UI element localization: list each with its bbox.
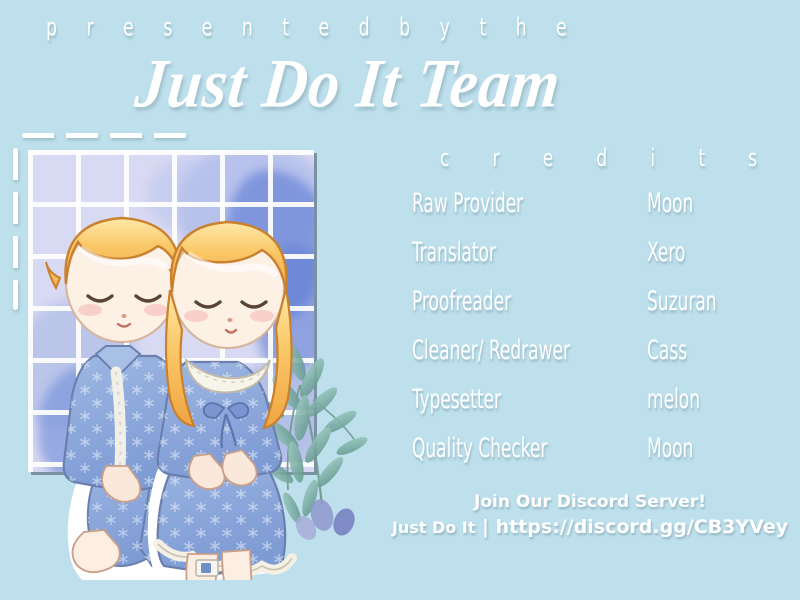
credit-row: Proofreader Suzuran xyxy=(412,290,742,339)
separator: | xyxy=(482,516,489,538)
credit-role: Translator xyxy=(412,238,614,269)
credit-role: Quality Checker xyxy=(412,434,614,465)
credits-page: p r e s e n t e d b y t h e Just Do It T… xyxy=(0,0,800,600)
group-name: Just Do It xyxy=(392,518,476,537)
credit-name: Xero xyxy=(647,238,729,269)
presented-by-kicker: p r e s e n t e d b y t h e xyxy=(46,12,579,43)
credit-role: Proofreader xyxy=(412,287,614,318)
credit-name: Moon xyxy=(647,189,729,220)
credit-role: Cleaner/ Redrawer xyxy=(412,336,614,367)
discord-link-line[interactable]: Just Do It | https://discord.gg/CB3YVey xyxy=(390,514,790,541)
credit-row: Cleaner/ Redrawer Cass xyxy=(412,339,742,388)
credit-name: Moon xyxy=(647,434,729,465)
dashed-border-top xyxy=(22,133,194,138)
credit-row: Quality Checker Moon xyxy=(412,437,742,486)
credit-row: Raw Provider Moon xyxy=(412,192,742,241)
discord-url[interactable]: https://discord.gg/CB3YVey xyxy=(496,516,789,538)
discord-invite-text: Join Our Discord Server! xyxy=(390,490,790,514)
credit-name: melon xyxy=(647,385,729,416)
credits-heading: c r e d i t s xyxy=(440,143,776,173)
credits-table: Raw Provider Moon Translator Xero Proofr… xyxy=(412,192,742,486)
credit-name: Cass xyxy=(647,336,729,367)
team-title: Just Do It Team xyxy=(132,44,565,125)
credit-row: Translator Xero xyxy=(412,241,742,290)
discord-footer: Join Our Discord Server! Just Do It | ht… xyxy=(390,490,790,541)
credit-role: Raw Provider xyxy=(412,189,614,220)
credit-name: Suzuran xyxy=(647,287,729,318)
credit-row: Typesetter melon xyxy=(412,388,742,437)
character-illustration xyxy=(0,150,400,580)
credit-role: Typesetter xyxy=(412,385,614,416)
